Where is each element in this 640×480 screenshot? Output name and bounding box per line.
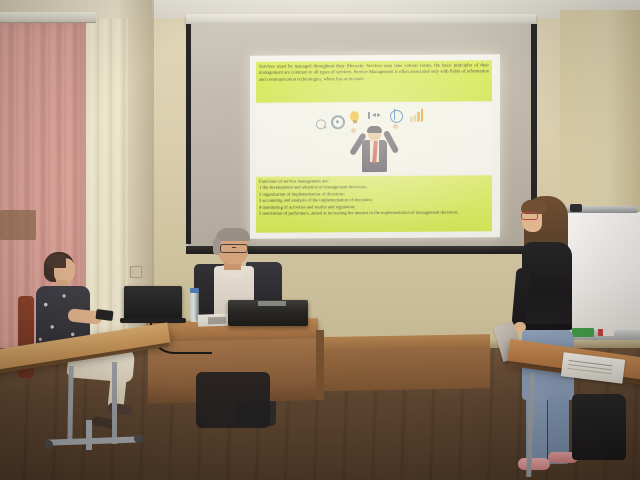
woman-left-shin — [108, 359, 129, 408]
bottle-cap — [190, 288, 199, 293]
figure-hair — [367, 126, 382, 133]
lightbulb-icon — [350, 111, 359, 121]
businessman-illustration — [256, 103, 492, 174]
chair-under-desk — [196, 372, 270, 428]
slide-bottom-item: 5 motivation of performers, aimed at inc… — [259, 209, 489, 217]
media-icon — [368, 112, 382, 119]
table-leg — [112, 362, 117, 444]
woman-left-fringe — [46, 254, 66, 268]
woman-right-glasses — [521, 212, 538, 220]
figure-left-hand — [351, 128, 356, 133]
woman-right-top — [522, 242, 572, 330]
black-bag-under-table — [572, 394, 626, 460]
presentation-slide: Services must be managed throughout thei… — [250, 54, 500, 239]
presenter-desk-side — [316, 330, 324, 400]
slide-illustration-area — [256, 103, 492, 174]
projector-case-label — [258, 301, 286, 306]
woman-right-belt — [522, 324, 572, 330]
table-leg-post — [86, 420, 92, 450]
gear-icon — [331, 115, 345, 129]
blinds-rail — [0, 12, 96, 23]
slide-top-paragraph: Services must be managed throughout thei… — [259, 62, 489, 82]
bar-chart-icon — [410, 108, 426, 122]
woman-right-sandal — [518, 458, 550, 470]
man-glasses — [220, 244, 248, 253]
figure-right-hand — [393, 124, 398, 129]
slide-header-band: Services must be managed throughout thei… — [256, 60, 492, 102]
screen-edge-left — [186, 24, 191, 244]
classroom-presentation-photo: Services must be managed throughout thei… — [0, 0, 640, 480]
table-caster — [134, 434, 143, 443]
mobile-phone — [95, 309, 113, 321]
man-hair — [216, 228, 250, 241]
slide-footer-band: Functions of service management are: 1 t… — [256, 175, 492, 232]
magnifier-icon — [316, 119, 326, 129]
window-frame — [0, 210, 36, 240]
marker-red — [598, 329, 614, 336]
table-caster — [44, 440, 53, 449]
businessman-figure — [348, 122, 400, 172]
woman-right-hand — [514, 322, 526, 332]
